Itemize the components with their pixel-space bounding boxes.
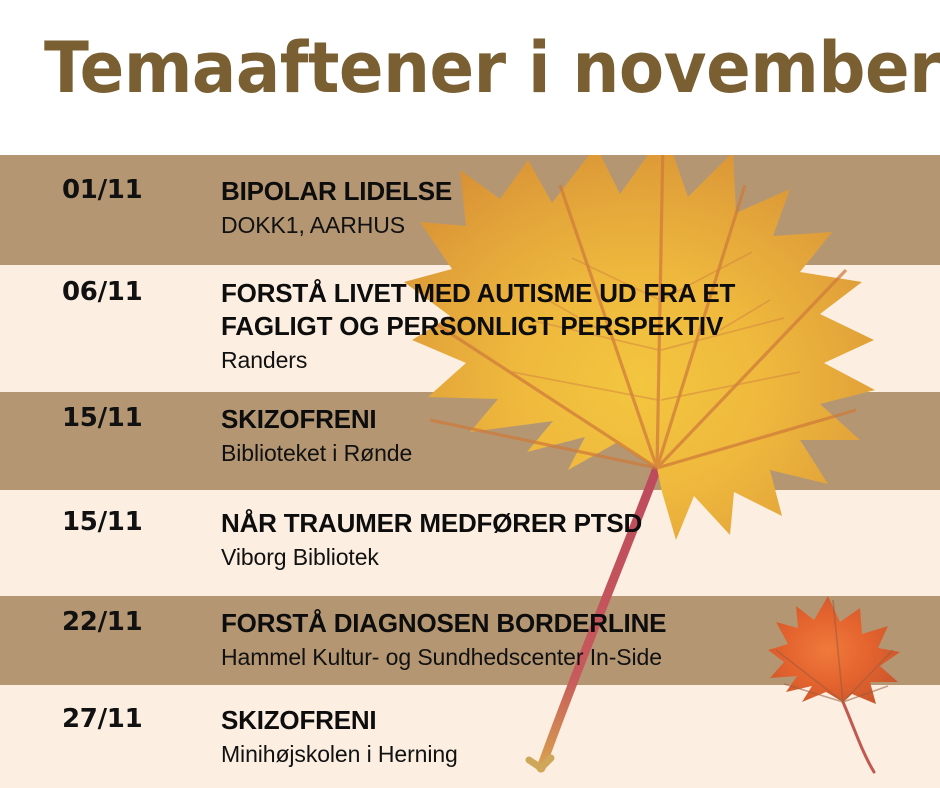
event-title: SKIZOFRENI	[221, 704, 921, 737]
event-title: SKIZOFRENI	[221, 403, 921, 436]
event-list: 01/11 BIPOLAR LIDELSE DOKK1, AARHUS 06/1…	[0, 155, 940, 788]
poster-root: 01/11 BIPOLAR LIDELSE DOKK1, AARHUS 06/1…	[0, 0, 940, 788]
event-title: FORSTÅ DIAGNOSEN BORDERLINE	[221, 607, 921, 640]
poster-header: Temaaftener i november	[0, 0, 940, 155]
event-date: 15/11	[62, 403, 142, 433]
event-location: Viborg Bibliotek	[221, 542, 921, 572]
event-location: Minihøjskolen i Herning	[221, 739, 921, 769]
event-title: NÅR TRAUMER MEDFØRER PTSD	[221, 507, 921, 540]
event-date: 22/11	[62, 607, 142, 637]
event-body: NÅR TRAUMER MEDFØRER PTSD Viborg Bibliot…	[221, 507, 921, 572]
page-title: Temaaftener i november	[44, 28, 940, 108]
event-date: 27/11	[62, 704, 142, 734]
event-date: 15/11	[62, 507, 142, 537]
event-body: BIPOLAR LIDELSE DOKK1, AARHUS	[221, 175, 921, 240]
event-title: BIPOLAR LIDELSE	[221, 175, 921, 208]
event-location: Hammel Kultur- og Sundhedscenter In-Side	[221, 642, 921, 672]
event-location: DOKK1, AARHUS	[221, 210, 921, 240]
event-location: Biblioteket i Rønde	[221, 438, 921, 468]
event-title: FORSTÅ LIVET MED AUTISME UD FRA ET FAGLI…	[221, 277, 921, 343]
event-body: FORSTÅ DIAGNOSEN BORDERLINE Hammel Kultu…	[221, 607, 921, 672]
event-location: Randers	[221, 345, 921, 375]
event-body: SKIZOFRENI Minihøjskolen i Herning	[221, 704, 921, 769]
event-body: SKIZOFRENI Biblioteket i Rønde	[221, 403, 921, 468]
event-date: 06/11	[62, 277, 142, 307]
event-body: FORSTÅ LIVET MED AUTISME UD FRA ET FAGLI…	[221, 277, 921, 375]
event-date: 01/11	[62, 175, 142, 205]
